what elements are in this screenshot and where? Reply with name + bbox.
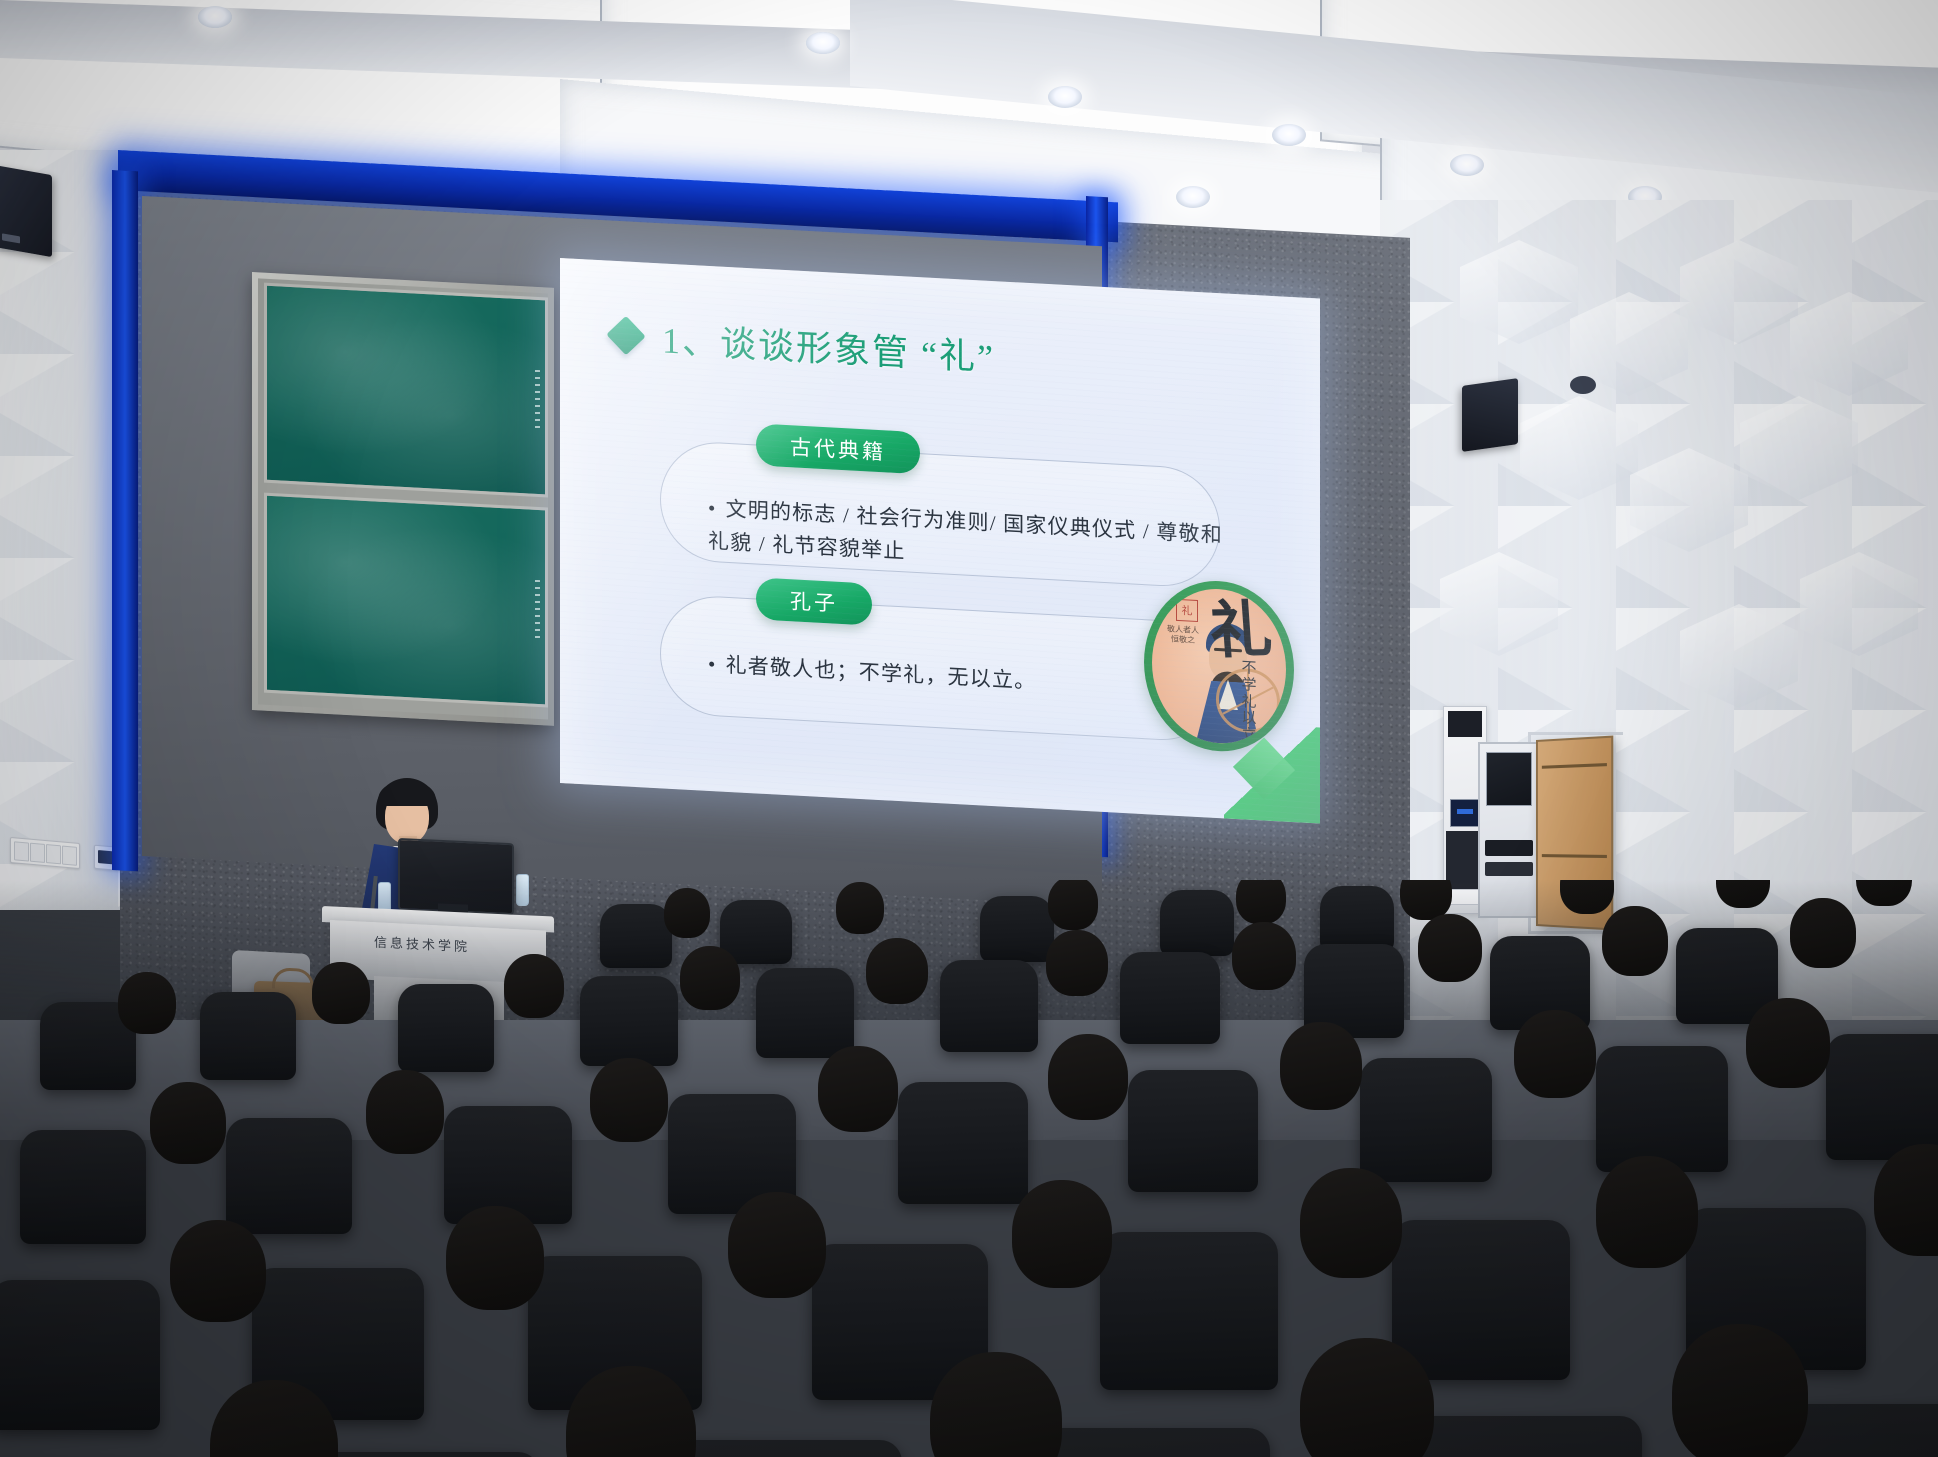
audience-seat	[1160, 890, 1234, 956]
downlight-icon	[1450, 154, 1484, 176]
audience-seat	[0, 1280, 160, 1430]
audience-seat	[600, 904, 672, 968]
li-glyph: 礼	[1208, 600, 1274, 663]
downlight-icon	[1176, 186, 1210, 208]
chalkboard-panel-top	[264, 283, 548, 498]
seal-stamp: 礼	[1176, 599, 1198, 622]
audience-seat	[756, 968, 854, 1058]
audience-head	[1596, 1156, 1698, 1268]
audience-head	[664, 888, 710, 938]
audience-seat	[940, 960, 1038, 1052]
audience-head	[150, 1082, 226, 1164]
bullet-icon: •	[708, 492, 717, 525]
audience-head	[1048, 880, 1098, 930]
audience-head	[312, 962, 370, 1024]
chalkboard-panel-bottom	[264, 493, 548, 708]
slide-title-row: 1、谈谈形象管 “礼”	[612, 309, 995, 381]
chalkboard	[252, 272, 554, 726]
audience-seat	[1128, 1070, 1258, 1192]
medallion-side-text: 敬人者人恒敬之	[1166, 624, 1200, 646]
rack-blank-panel	[1448, 711, 1482, 737]
downlight-icon	[198, 6, 232, 28]
audience-seat	[1120, 952, 1220, 1044]
audience-seat	[898, 1082, 1028, 1204]
audience-seat	[20, 1130, 146, 1244]
projected-slide: 1、谈谈形象管 “礼” 古代典籍 •文明的标志 / 社会行为准则/ 国家仪典仪式…	[560, 258, 1320, 823]
audience-head	[504, 954, 564, 1018]
audience-head	[866, 938, 928, 1004]
downlight-icon	[806, 32, 840, 54]
downlight-icon	[1048, 86, 1082, 108]
diamond-icon	[606, 316, 646, 356]
audience-head	[1232, 922, 1296, 990]
audience-seat	[980, 896, 1054, 962]
audience-head	[818, 1046, 898, 1132]
blue-led-trim-left	[112, 170, 138, 871]
audience-head	[836, 882, 884, 934]
audience-seat	[1100, 1232, 1278, 1390]
audience-seat	[444, 1106, 572, 1224]
audience-head	[118, 972, 176, 1034]
cabinet-device	[1485, 840, 1533, 856]
audience-head	[590, 1058, 668, 1142]
audience-head	[366, 1070, 444, 1154]
camera-icon	[1570, 376, 1596, 394]
audience-head	[680, 946, 740, 1010]
audience-seat	[398, 984, 494, 1072]
audience-head	[728, 1192, 826, 1298]
board-marks	[535, 370, 540, 430]
downlight-icon	[1272, 124, 1306, 146]
audience-head	[1672, 1324, 1808, 1457]
bullet-icon: •	[708, 648, 717, 681]
audience-seat	[226, 1118, 352, 1234]
audience-seat	[580, 976, 678, 1066]
audience-seat	[1360, 1058, 1492, 1182]
slide-title: 1、谈谈形象管 “礼”	[662, 311, 995, 381]
audience-head	[1280, 1022, 1362, 1110]
cabinet-device	[1485, 862, 1533, 876]
presenter-fringe	[378, 784, 436, 806]
speaker-icon	[0, 165, 52, 257]
audience-seat	[1826, 1034, 1938, 1160]
audience-head	[1874, 1144, 1938, 1256]
audience-head	[170, 1220, 266, 1322]
audience-seat	[200, 992, 296, 1080]
audience-seat	[1320, 886, 1394, 952]
lecture-hall-scene: 1、谈谈形象管 “礼” 古代典籍 •文明的标志 / 社会行为准则/ 国家仪典仪式…	[0, 0, 1938, 1457]
audience-head	[1046, 930, 1108, 996]
audience-head	[1602, 906, 1668, 976]
slide-pill-2: 孔子	[756, 577, 872, 625]
audience-seat	[1392, 1220, 1570, 1380]
audience-head	[446, 1206, 544, 1310]
audience-seat	[1596, 1046, 1728, 1172]
audience-head	[1012, 1180, 1112, 1288]
audience-head	[1048, 1034, 1128, 1120]
audience-head	[1300, 1168, 1402, 1278]
audience-head	[1236, 880, 1286, 924]
audience-head	[1418, 914, 1482, 982]
cabinet-window	[1486, 752, 1532, 806]
audience-head	[1746, 998, 1830, 1088]
audience-area	[0, 880, 1938, 1457]
audience-head	[1300, 1338, 1434, 1457]
board-marks	[535, 580, 540, 640]
speaker-icon	[1462, 378, 1518, 452]
audience-head	[1514, 1010, 1596, 1098]
slide-pill-1: 古代典籍	[756, 423, 920, 474]
audience-head	[1790, 898, 1856, 968]
